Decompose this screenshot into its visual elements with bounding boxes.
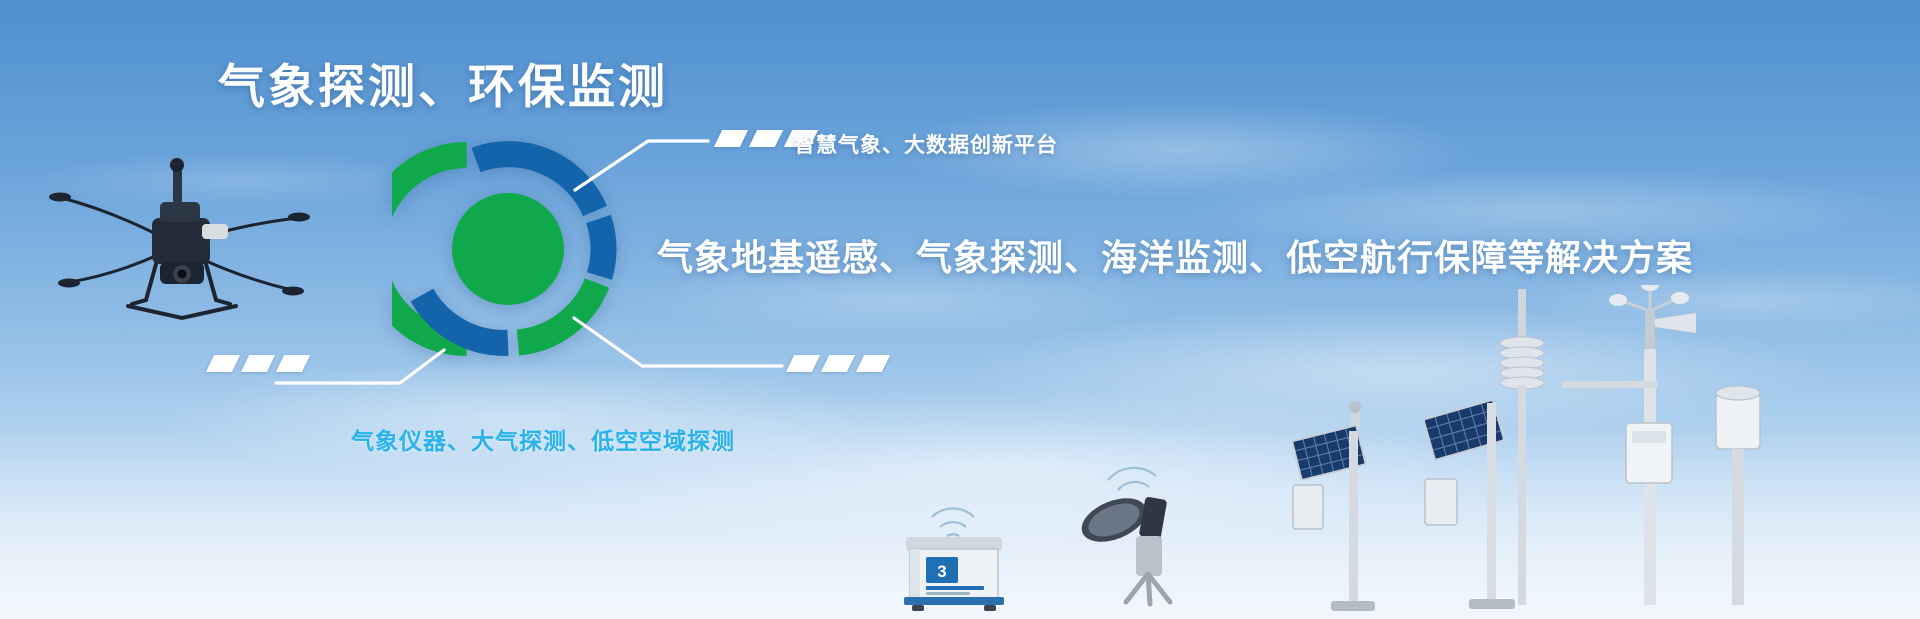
banner-title: 气象探测、环保监测 bbox=[218, 48, 668, 117]
weather-mast-anemometer bbox=[1500, 285, 1800, 615]
banner-root: 气象探测、环保监测 bbox=[0, 0, 1920, 619]
slash-1 bbox=[714, 130, 748, 147]
dual-arc-donut-graphic bbox=[392, 133, 624, 365]
solar-panel-station-left bbox=[1275, 401, 1385, 611]
slash-2 bbox=[241, 355, 275, 372]
slash-marks-bottom-right bbox=[790, 355, 886, 372]
slash-marks-bottom-left bbox=[210, 355, 306, 372]
drone-illustration bbox=[40, 150, 320, 340]
svg-text:3: 3 bbox=[937, 562, 946, 581]
tagline-bottom-left: 气象仪器、大气探测、低空空域探测 bbox=[351, 422, 735, 456]
tagline-top-right: 智慧气象、大数据创新平台 bbox=[794, 129, 1058, 159]
slash-1 bbox=[786, 355, 820, 372]
slash-2 bbox=[821, 355, 855, 372]
slash-3 bbox=[276, 355, 310, 372]
tagline-main: 气象地基遥感、气象探测、海洋监测、低空航行保障等解决方案 bbox=[657, 229, 1693, 281]
slash-1 bbox=[206, 355, 240, 372]
slash-3 bbox=[856, 355, 890, 372]
slash-2 bbox=[749, 130, 783, 147]
laser-wind-radar-cabinet: 3 bbox=[888, 491, 1018, 611]
satellite-dish-tripod bbox=[1070, 462, 1220, 607]
